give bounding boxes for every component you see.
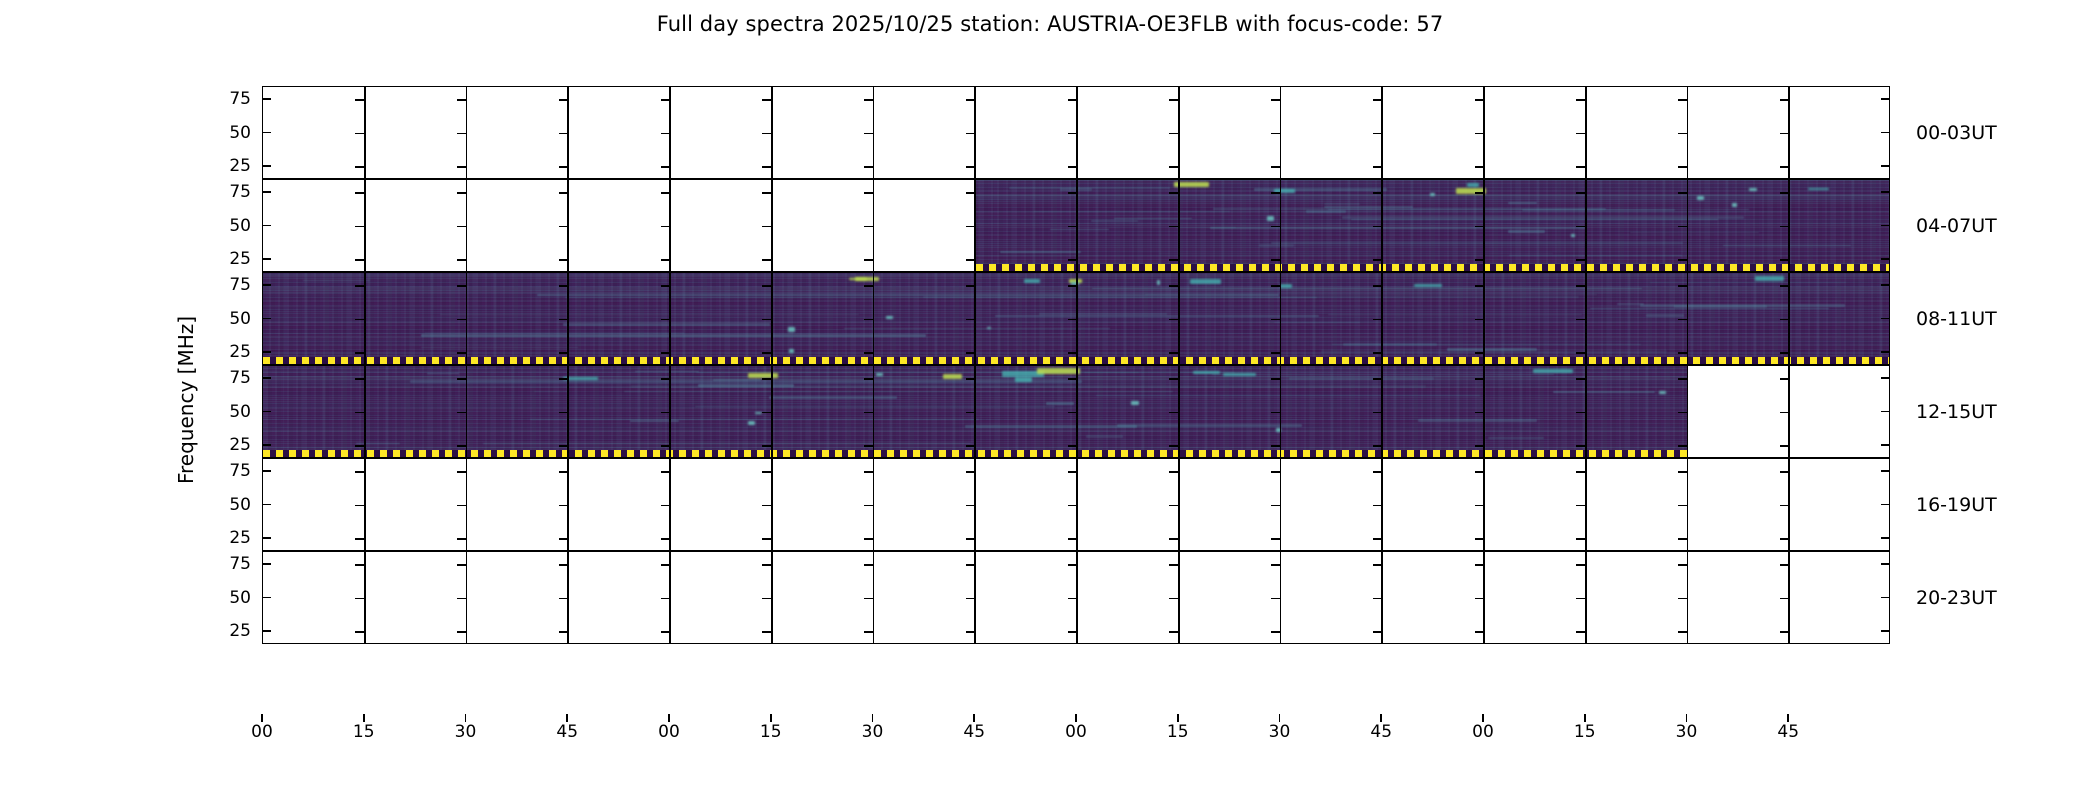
y-tick-mark <box>966 259 975 261</box>
y-tick-mark <box>1068 226 1077 228</box>
y-tick-mark <box>1271 319 1280 321</box>
y-tick-mark <box>864 598 873 600</box>
y-tick-mark <box>1373 598 1382 600</box>
y-tick-mark <box>1271 285 1280 287</box>
y-tick-mark <box>1881 411 1890 413</box>
y-tick-mark <box>762 192 771 194</box>
y-tick-mark <box>1475 166 1484 168</box>
y-tick-mark <box>262 225 271 227</box>
y-tick-mark <box>1475 598 1484 600</box>
y-tick-mark <box>559 226 568 228</box>
y-tick-mark <box>864 226 873 228</box>
y-tick-mark <box>1271 133 1280 135</box>
y-tick-mark <box>762 378 771 380</box>
y-tick-mark <box>1169 192 1178 194</box>
y-tick-mark <box>262 411 271 413</box>
y-tick-mark <box>1576 445 1585 447</box>
y-tick-mark <box>559 505 568 507</box>
y-tick-mark <box>1068 412 1077 414</box>
y-tick-mark <box>1678 319 1687 321</box>
y-tick-mark <box>864 505 873 507</box>
y-tick-mark <box>457 378 466 380</box>
y-tick-mark <box>355 285 364 287</box>
y-tick-mark <box>1169 564 1178 566</box>
y-tick-label: 25 <box>205 621 251 641</box>
y-tick-mark <box>1475 412 1484 414</box>
y-tick-mark <box>1576 564 1585 566</box>
y-tick-mark <box>262 351 271 353</box>
y-tick-label: 25 <box>205 249 251 269</box>
y-tick-mark <box>966 538 975 540</box>
y-tick-mark <box>1373 352 1382 354</box>
x-tick-label: 45 <box>963 722 985 742</box>
y-tick-mark <box>1169 505 1178 507</box>
x-tick-label: 30 <box>862 722 884 742</box>
y-tick-mark <box>1780 631 1789 633</box>
y-tick-label: 50 <box>205 402 251 422</box>
y-tick-mark <box>966 166 975 168</box>
y-tick-mark <box>762 352 771 354</box>
x-tick-mark <box>1787 714 1789 722</box>
y-tick-mark <box>1780 352 1789 354</box>
y-tick-mark <box>559 259 568 261</box>
x-tick-label: 30 <box>1269 722 1291 742</box>
x-tick-label: 30 <box>1676 722 1698 742</box>
y-tick-mark <box>1068 538 1077 540</box>
spectrogram-panel[interactable] <box>262 86 1890 179</box>
y-tick-mark <box>966 319 975 321</box>
x-tick-mark <box>363 714 365 722</box>
y-tick-mark <box>1678 259 1687 261</box>
y-tick-mark <box>1780 99 1789 101</box>
y-tick-mark <box>1780 538 1789 540</box>
y-tick-mark <box>1780 319 1789 321</box>
x-tick-label: 15 <box>760 722 782 742</box>
y-tick-mark <box>1068 378 1077 380</box>
y-tick-mark <box>1576 192 1585 194</box>
y-tick-mark <box>1068 598 1077 600</box>
y-tick-mark <box>1678 378 1687 380</box>
y-tick-mark <box>661 166 670 168</box>
y-tick-mark <box>1373 445 1382 447</box>
y-tick-mark <box>457 226 466 228</box>
y-tick-mark <box>1271 564 1280 566</box>
y-tick-mark <box>1881 98 1890 100</box>
y-tick-mark <box>1068 99 1077 101</box>
spectrogram-panel[interactable] <box>262 272 1890 365</box>
y-tick-mark <box>1169 378 1178 380</box>
y-axis-label: Frequency [MHz] <box>174 316 198 484</box>
y-tick-mark <box>1881 444 1890 446</box>
y-tick-mark <box>661 319 670 321</box>
y-tick-mark <box>1576 412 1585 414</box>
spectrogram-panel[interactable] <box>262 551 1890 644</box>
y-tick-mark <box>1475 352 1484 354</box>
y-tick-mark <box>1373 259 1382 261</box>
y-tick-mark <box>661 471 670 473</box>
y-tick-mark <box>1780 598 1789 600</box>
y-tick-mark <box>661 598 670 600</box>
y-tick-mark <box>1169 631 1178 633</box>
y-tick-mark <box>1169 445 1178 447</box>
y-tick-mark <box>457 133 466 135</box>
y-tick-mark <box>1576 319 1585 321</box>
y-tick-mark <box>1271 598 1280 600</box>
y-tick-mark <box>1881 191 1890 193</box>
y-tick-mark <box>1271 99 1280 101</box>
x-tick-label: 00 <box>251 722 273 742</box>
y-tick-mark <box>1169 166 1178 168</box>
y-tick-mark <box>1475 564 1484 566</box>
y-tick-mark <box>1475 99 1484 101</box>
y-tick-mark <box>1780 412 1789 414</box>
y-tick-mark <box>864 378 873 380</box>
y-tick-mark <box>864 538 873 540</box>
y-tick-mark <box>762 412 771 414</box>
y-tick-mark <box>1271 166 1280 168</box>
x-tick-label: 45 <box>1370 722 1392 742</box>
y-tick-mark <box>1068 471 1077 473</box>
y-tick-mark <box>1475 192 1484 194</box>
saturation-band <box>976 264 1890 271</box>
y-tick-mark <box>864 192 873 194</box>
y-tick-label: 50 <box>205 495 251 515</box>
y-tick-mark <box>457 445 466 447</box>
y-tick-label: 25 <box>205 528 251 548</box>
y-tick-mark <box>559 445 568 447</box>
y-tick-mark <box>661 259 670 261</box>
y-tick-mark <box>559 412 568 414</box>
y-tick-mark <box>262 258 271 260</box>
y-tick-mark <box>1780 445 1789 447</box>
y-tick-mark <box>864 445 873 447</box>
y-tick-mark <box>1780 285 1789 287</box>
y-tick-mark <box>1271 631 1280 633</box>
y-tick-mark <box>1169 598 1178 600</box>
y-tick-mark <box>966 133 975 135</box>
y-tick-mark <box>1678 445 1687 447</box>
y-tick-mark <box>559 319 568 321</box>
y-tick-mark <box>1169 352 1178 354</box>
y-tick-mark <box>1373 471 1382 473</box>
x-tick-label: 15 <box>1167 722 1189 742</box>
y-tick-mark <box>1780 505 1789 507</box>
y-tick-mark <box>559 471 568 473</box>
y-tick-mark <box>1271 471 1280 473</box>
y-tick-mark <box>1475 259 1484 261</box>
row-time-label: 12-15UT <box>1916 401 1997 423</box>
y-tick-mark <box>1068 445 1077 447</box>
y-tick-mark <box>762 445 771 447</box>
y-tick-mark <box>1475 226 1484 228</box>
y-tick-mark <box>1881 597 1890 599</box>
y-tick-mark <box>457 99 466 101</box>
y-tick-mark <box>1373 505 1382 507</box>
y-tick-mark <box>355 319 364 321</box>
y-tick-mark <box>1678 192 1687 194</box>
y-tick-mark <box>1068 133 1077 135</box>
y-tick-mark <box>1881 132 1890 134</box>
y-tick-mark <box>1475 285 1484 287</box>
y-tick-mark <box>262 563 271 565</box>
y-tick-mark <box>1169 133 1178 135</box>
spectrogram-data <box>976 180 1890 271</box>
y-tick-mark <box>559 631 568 633</box>
x-tick-mark <box>1380 714 1382 722</box>
y-tick-mark <box>559 285 568 287</box>
y-tick-mark <box>262 537 271 539</box>
y-tick-mark <box>966 412 975 414</box>
y-tick-mark <box>762 505 771 507</box>
y-tick-mark <box>1780 192 1789 194</box>
y-tick-mark <box>864 259 873 261</box>
y-tick-mark <box>661 99 670 101</box>
y-tick-mark <box>355 378 364 380</box>
y-tick-mark <box>1678 133 1687 135</box>
y-tick-mark <box>559 133 568 135</box>
y-tick-mark <box>559 538 568 540</box>
y-tick-mark <box>1678 285 1687 287</box>
y-tick-mark <box>355 99 364 101</box>
y-tick-mark <box>1780 133 1789 135</box>
y-tick-mark <box>262 284 271 286</box>
y-tick-mark <box>661 226 670 228</box>
y-tick-mark <box>864 166 873 168</box>
y-tick-mark <box>661 192 670 194</box>
y-tick-mark <box>457 166 466 168</box>
y-tick-mark <box>457 192 466 194</box>
x-tick-label: 00 <box>1065 722 1087 742</box>
row-time-label: 16-19UT <box>1916 494 1997 516</box>
y-tick-mark <box>661 285 670 287</box>
y-tick-mark <box>1373 378 1382 380</box>
y-tick-label: 75 <box>205 182 251 202</box>
y-tick-mark <box>1271 538 1280 540</box>
y-tick-mark <box>864 319 873 321</box>
y-tick-mark <box>1068 259 1077 261</box>
y-tick-mark <box>762 471 771 473</box>
y-tick-mark <box>762 226 771 228</box>
y-tick-mark <box>661 564 670 566</box>
y-tick-mark <box>1678 412 1687 414</box>
y-tick-mark <box>1881 470 1890 472</box>
y-tick-mark <box>1068 564 1077 566</box>
y-tick-mark <box>355 505 364 507</box>
y-tick-mark <box>1678 598 1687 600</box>
y-tick-mark <box>1678 505 1687 507</box>
y-tick-mark <box>1576 598 1585 600</box>
y-tick-mark <box>1169 259 1178 261</box>
y-tick-mark <box>966 505 975 507</box>
y-tick-mark <box>1881 377 1890 379</box>
y-tick-mark <box>966 99 975 101</box>
row-time-label: 04-07UT <box>1916 215 1997 237</box>
y-tick-mark <box>966 445 975 447</box>
y-tick-mark <box>1576 99 1585 101</box>
y-tick-mark <box>355 166 364 168</box>
y-tick-mark <box>762 319 771 321</box>
y-tick-mark <box>1271 505 1280 507</box>
y-tick-mark <box>457 631 466 633</box>
x-tick-mark <box>1177 714 1179 722</box>
x-tick-label: 15 <box>353 722 375 742</box>
y-tick-mark <box>1068 192 1077 194</box>
x-tick-mark <box>973 714 975 722</box>
y-tick-mark <box>1169 99 1178 101</box>
y-tick-mark <box>966 192 975 194</box>
y-tick-mark <box>457 598 466 600</box>
y-tick-mark <box>661 445 670 447</box>
y-tick-mark <box>262 165 271 167</box>
x-tick-label: 15 <box>1574 722 1596 742</box>
y-tick-mark <box>1373 99 1382 101</box>
y-tick-label: 25 <box>205 435 251 455</box>
y-tick-label: 75 <box>205 461 251 481</box>
y-tick-label: 50 <box>205 588 251 608</box>
y-tick-mark <box>1576 505 1585 507</box>
y-tick-mark <box>1475 133 1484 135</box>
y-tick-mark <box>966 471 975 473</box>
spectrogram-panel[interactable] <box>262 179 1890 272</box>
y-tick-label: 75 <box>205 89 251 109</box>
x-tick-mark <box>872 714 874 722</box>
y-tick-mark <box>1881 165 1890 167</box>
y-tick-mark <box>1678 538 1687 540</box>
y-tick-mark <box>457 319 466 321</box>
y-tick-mark <box>1576 133 1585 135</box>
y-tick-mark <box>1881 284 1890 286</box>
page-title: Full day spectra 2025/10/25 station: AUS… <box>0 12 2100 36</box>
y-tick-mark <box>355 226 364 228</box>
y-tick-mark <box>1678 564 1687 566</box>
y-tick-label: 25 <box>205 342 251 362</box>
y-tick-mark <box>559 192 568 194</box>
y-tick-mark <box>1780 471 1789 473</box>
y-tick-mark <box>1068 166 1077 168</box>
y-tick-mark <box>355 445 364 447</box>
y-tick-mark <box>559 166 568 168</box>
y-tick-mark <box>1373 166 1382 168</box>
y-tick-mark <box>355 538 364 540</box>
y-tick-mark <box>1271 192 1280 194</box>
y-tick-mark <box>355 412 364 414</box>
y-tick-mark <box>864 285 873 287</box>
x-tick-mark <box>566 714 568 722</box>
y-tick-mark <box>1881 351 1890 353</box>
spectrogram-panel[interactable] <box>262 458 1890 551</box>
y-tick-mark <box>864 471 873 473</box>
y-tick-mark <box>661 133 670 135</box>
y-tick-mark <box>864 631 873 633</box>
y-tick-mark <box>762 285 771 287</box>
x-tick-mark <box>261 714 263 722</box>
y-tick-mark <box>1678 226 1687 228</box>
y-tick-mark <box>1881 318 1890 320</box>
y-tick-mark <box>661 412 670 414</box>
y-tick-mark <box>1881 225 1890 227</box>
y-tick-mark <box>762 259 771 261</box>
y-tick-mark <box>1373 226 1382 228</box>
y-tick-mark <box>966 352 975 354</box>
y-tick-mark <box>1068 505 1077 507</box>
y-tick-mark <box>1373 192 1382 194</box>
y-tick-label: 50 <box>205 123 251 143</box>
row-time-label: 08-11UT <box>1916 308 1997 330</box>
y-tick-mark <box>1881 630 1890 632</box>
y-tick-mark <box>1271 259 1280 261</box>
y-tick-mark <box>1678 631 1687 633</box>
y-tick-mark <box>1068 352 1077 354</box>
x-tick-mark <box>770 714 772 722</box>
y-tick-mark <box>262 318 271 320</box>
y-tick-mark <box>1475 319 1484 321</box>
x-tick-mark <box>1686 714 1688 722</box>
y-tick-mark <box>1169 538 1178 540</box>
spectrogram-texture-layer <box>976 180 1890 271</box>
y-tick-mark <box>966 285 975 287</box>
y-tick-mark <box>355 259 364 261</box>
y-tick-mark <box>1068 285 1077 287</box>
y-tick-mark <box>1576 285 1585 287</box>
y-tick-mark <box>262 504 271 506</box>
y-tick-label: 50 <box>205 309 251 329</box>
x-tick-mark <box>1584 714 1586 722</box>
x-tick-label: 45 <box>1777 722 1799 742</box>
y-tick-mark <box>1576 538 1585 540</box>
y-tick-mark <box>355 471 364 473</box>
y-tick-label: 75 <box>205 368 251 388</box>
y-tick-mark <box>355 631 364 633</box>
x-tick-mark <box>668 714 670 722</box>
row-time-label: 00-03UT <box>1916 122 1997 144</box>
y-tick-mark <box>1373 538 1382 540</box>
x-tick-label: 00 <box>658 722 680 742</box>
y-tick-mark <box>661 631 670 633</box>
y-tick-mark <box>1068 319 1077 321</box>
y-tick-mark <box>1576 471 1585 473</box>
y-tick-mark <box>1576 259 1585 261</box>
x-tick-label: 00 <box>1472 722 1494 742</box>
y-tick-mark <box>1271 378 1280 380</box>
y-tick-mark <box>1576 166 1585 168</box>
y-tick-mark <box>457 505 466 507</box>
y-tick-mark <box>1373 285 1382 287</box>
y-tick-mark <box>1169 412 1178 414</box>
y-tick-mark <box>1373 564 1382 566</box>
y-tick-label: 50 <box>205 216 251 236</box>
y-tick-mark <box>1271 352 1280 354</box>
y-tick-mark <box>1271 226 1280 228</box>
x-tick-mark <box>1075 714 1077 722</box>
y-tick-mark <box>1576 352 1585 354</box>
y-tick-mark <box>559 378 568 380</box>
y-tick-mark <box>355 192 364 194</box>
y-tick-mark <box>1881 537 1890 539</box>
y-tick-mark <box>1780 166 1789 168</box>
y-tick-mark <box>762 564 771 566</box>
y-tick-mark <box>762 538 771 540</box>
spectrogram-panel[interactable] <box>262 365 1890 458</box>
y-tick-mark <box>559 99 568 101</box>
y-tick-mark <box>1881 504 1890 506</box>
y-tick-mark <box>762 166 771 168</box>
y-tick-mark <box>1475 471 1484 473</box>
y-tick-mark <box>1475 631 1484 633</box>
y-tick-mark <box>457 564 466 566</box>
y-tick-mark <box>1475 538 1484 540</box>
y-tick-mark <box>1576 226 1585 228</box>
y-tick-label: 75 <box>205 554 251 574</box>
